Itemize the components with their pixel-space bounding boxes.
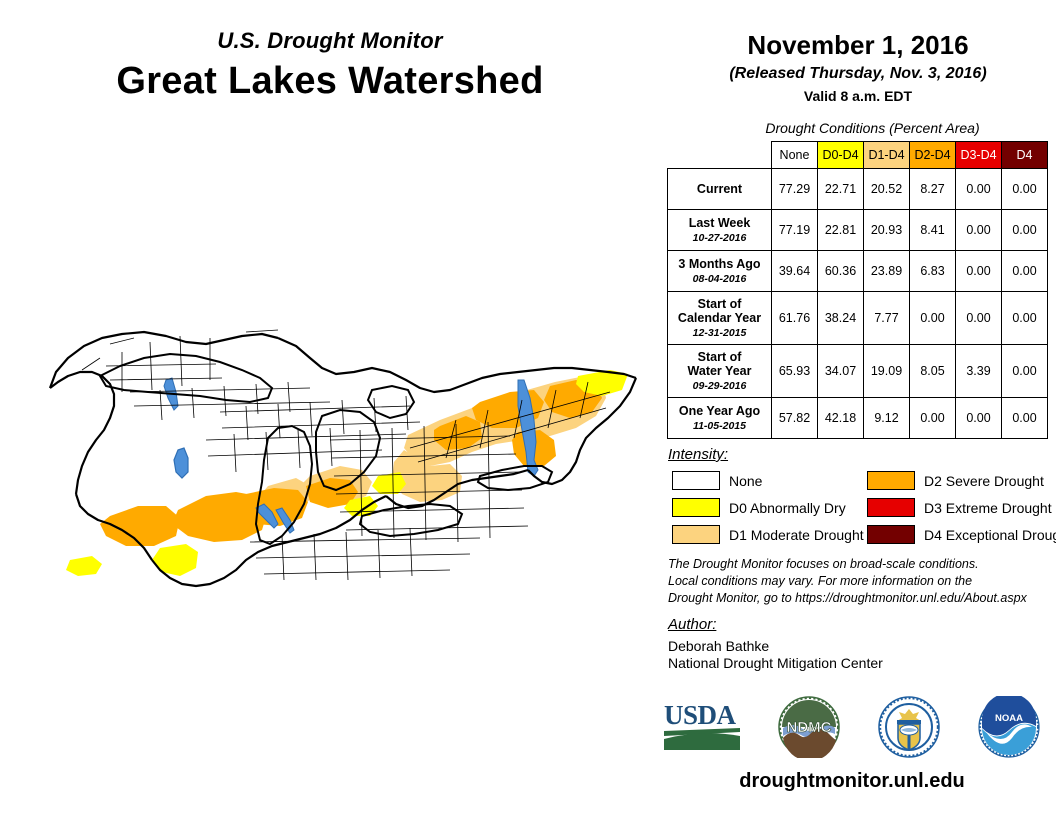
usda-logo: USDA (662, 698, 742, 756)
page-title: Great Lakes Watershed (0, 60, 660, 103)
intensity-legend-title: Intensity: (668, 446, 728, 463)
table-cell: 38.24 (818, 292, 864, 345)
intensity-legend-right-column: D2 Severe DroughtD3 Extreme DroughtD4 Ex… (867, 468, 1056, 549)
table-cell: 61.76 (772, 292, 818, 345)
table-cell: 0.00 (1002, 398, 1048, 439)
drought-conditions-table: NoneD0-D4D1-D4D2-D4D3-D4D4 Current77.292… (667, 141, 1048, 439)
table-cell: 39.64 (772, 251, 818, 292)
table-cell: 3.39 (956, 345, 1002, 398)
valid-time: Valid 8 a.m. EDT (660, 88, 1056, 104)
disclaimer-line-2: Local conditions may vary. For more info… (668, 573, 1048, 590)
table-cell: 60.36 (818, 251, 864, 292)
table-header: NoneD0-D4D1-D4D2-D4D3-D4D4 (668, 142, 1048, 169)
row-label-text: 3 Months Ago (678, 257, 760, 271)
table-row-label: Start ofWater Year09-29-2016 (668, 345, 772, 398)
date-header: November 1, 2016 (Released Thursday, Nov… (660, 30, 1056, 104)
table-cell: 20.93 (864, 210, 910, 251)
legend-color-swatch (672, 471, 720, 490)
table-row: Last Week10-27-201677.1922.8120.938.410.… (668, 210, 1048, 251)
legend-item: None (672, 468, 864, 493)
row-label-date: 10-27-2016 (670, 232, 769, 244)
disclaimer-text: The Drought Monitor focuses on broad-sca… (668, 556, 1048, 607)
noaa-logo: NOAA (976, 696, 1042, 758)
product-subtitle: U.S. Drought Monitor (0, 28, 660, 54)
row-label-date: 09-29-2016 (670, 380, 769, 392)
disclaimer-line-3: Drought Monitor, go to https://droughtmo… (668, 590, 1048, 607)
legend-item: D4 Exceptional Drought (867, 522, 1056, 547)
table-body: Current77.2922.7120.528.270.000.00Last W… (668, 169, 1048, 439)
table-cell: 0.00 (1002, 169, 1048, 210)
table-column-header-d3-d4: D3-D4 (956, 142, 1002, 169)
row-label-text: One Year Ago (679, 404, 760, 418)
table-row: Current77.2922.7120.528.270.000.00 (668, 169, 1048, 210)
valid-date: November 1, 2016 (660, 30, 1056, 61)
table-cell: 8.27 (910, 169, 956, 210)
partner-logos: USDA NDMC (662, 692, 1042, 762)
legend-label: D1 Moderate Drought (729, 527, 864, 543)
table-header-row: NoneD0-D4D1-D4D2-D4D3-D4D4 (668, 142, 1048, 169)
table-row-label: Last Week10-27-2016 (668, 210, 772, 251)
row-label-text: Start ofWater Year (688, 350, 752, 378)
table-corner-cell (668, 142, 772, 169)
table-cell: 20.52 (864, 169, 910, 210)
author-name: Deborah Bathke (668, 638, 769, 654)
table-cell: 57.82 (772, 398, 818, 439)
table-cell: 8.41 (910, 210, 956, 251)
table-row-label: One Year Ago11-05-2015 (668, 398, 772, 439)
usdc-seal (876, 696, 942, 758)
table-cell: 0.00 (956, 292, 1002, 345)
svg-text:NDMC: NDMC (787, 719, 832, 736)
table-column-header-d0-d4: D0-D4 (818, 142, 864, 169)
table-row: Start ofCalendar Year12-31-201561.7638.2… (668, 292, 1048, 345)
table-row-label: Current (668, 169, 772, 210)
legend-item: D2 Severe Drought (867, 468, 1056, 493)
legend-item: D3 Extreme Drought (867, 495, 1056, 520)
table-cell: 0.00 (956, 398, 1002, 439)
table-cell: 65.93 (772, 345, 818, 398)
author-label: Author: (668, 616, 716, 633)
ndmc-logo: NDMC (776, 696, 842, 758)
map-container (10, 280, 650, 630)
table-row-label: Start ofCalendar Year12-31-2015 (668, 292, 772, 345)
table-row: Start ofWater Year09-29-201665.9334.0719… (668, 345, 1048, 398)
table-row: One Year Ago11-05-201557.8242.189.120.00… (668, 398, 1048, 439)
table-row-label: 3 Months Ago08-04-2016 (668, 251, 772, 292)
drought-monitor-page: U.S. Drought Monitor Great Lakes Watersh… (0, 0, 1056, 816)
table-cell: 23.89 (864, 251, 910, 292)
table-cell: 77.29 (772, 169, 818, 210)
disclaimer-line-1: The Drought Monitor focuses on broad-sca… (668, 556, 1048, 573)
release-date: (Released Thursday, Nov. 3, 2016) (660, 65, 1056, 83)
table-cell: 7.77 (864, 292, 910, 345)
table-row: 3 Months Ago08-04-201639.6460.3623.896.8… (668, 251, 1048, 292)
legend-label: D0 Abnormally Dry (729, 500, 846, 516)
table-column-header-d2-d4: D2-D4 (910, 142, 956, 169)
table-cell: 42.18 (818, 398, 864, 439)
row-label-date: 12-31-2015 (670, 327, 769, 339)
great-lakes-watershed-drought-map (10, 280, 650, 630)
legend-color-swatch (867, 471, 915, 490)
table-cell: 0.00 (910, 398, 956, 439)
legend-item: D0 Abnormally Dry (672, 495, 864, 520)
table-cell: 6.83 (910, 251, 956, 292)
intensity-legend-left-column: NoneD0 Abnormally DryD1 Moderate Drought (672, 468, 864, 549)
table-cell: 77.19 (772, 210, 818, 251)
legend-item: D1 Moderate Drought (672, 522, 864, 547)
row-label-date: 11-05-2015 (670, 420, 769, 432)
map-inland-water-highlight (174, 448, 188, 478)
table-caption: Drought Conditions (Percent Area) (700, 120, 1045, 136)
legend-color-swatch (867, 498, 915, 517)
site-url: droughtmonitor.unl.edu (662, 770, 1042, 793)
legend-label: D3 Extreme Drought (924, 500, 1052, 516)
table-cell: 0.00 (956, 169, 1002, 210)
legend-color-swatch (672, 498, 720, 517)
author-organization: National Drought Mitigation Center (668, 655, 883, 671)
table-cell: 22.71 (818, 169, 864, 210)
legend-label: D2 Severe Drought (924, 473, 1044, 489)
table-cell: 0.00 (1002, 345, 1048, 398)
legend-label: None (729, 473, 762, 489)
table-cell: 8.05 (910, 345, 956, 398)
table-column-header-none: None (772, 142, 818, 169)
row-label-date: 08-04-2016 (670, 273, 769, 285)
table-cell: 0.00 (956, 210, 1002, 251)
page-title-block: U.S. Drought Monitor Great Lakes Watersh… (0, 28, 660, 103)
table-cell: 9.12 (864, 398, 910, 439)
table-cell: 19.09 (864, 345, 910, 398)
legend-color-swatch (672, 525, 720, 544)
table-cell: 22.81 (818, 210, 864, 251)
table-cell: 0.00 (1002, 251, 1048, 292)
row-label-text: Current (697, 182, 742, 196)
table-column-header-d1-d4: D1-D4 (864, 142, 910, 169)
table-cell: 0.00 (1002, 210, 1048, 251)
svg-text:USDA: USDA (664, 700, 737, 730)
table-cell: 0.00 (956, 251, 1002, 292)
legend-label: D4 Exceptional Drought (924, 527, 1056, 543)
legend-color-swatch (867, 525, 915, 544)
row-label-text: Last Week (689, 216, 751, 230)
row-label-text: Start ofCalendar Year (678, 297, 761, 325)
svg-text:NOAA: NOAA (995, 713, 1023, 724)
table-column-header-d4: D4 (1002, 142, 1048, 169)
table-cell: 0.00 (910, 292, 956, 345)
table-cell: 0.00 (1002, 292, 1048, 345)
table-cell: 34.07 (818, 345, 864, 398)
